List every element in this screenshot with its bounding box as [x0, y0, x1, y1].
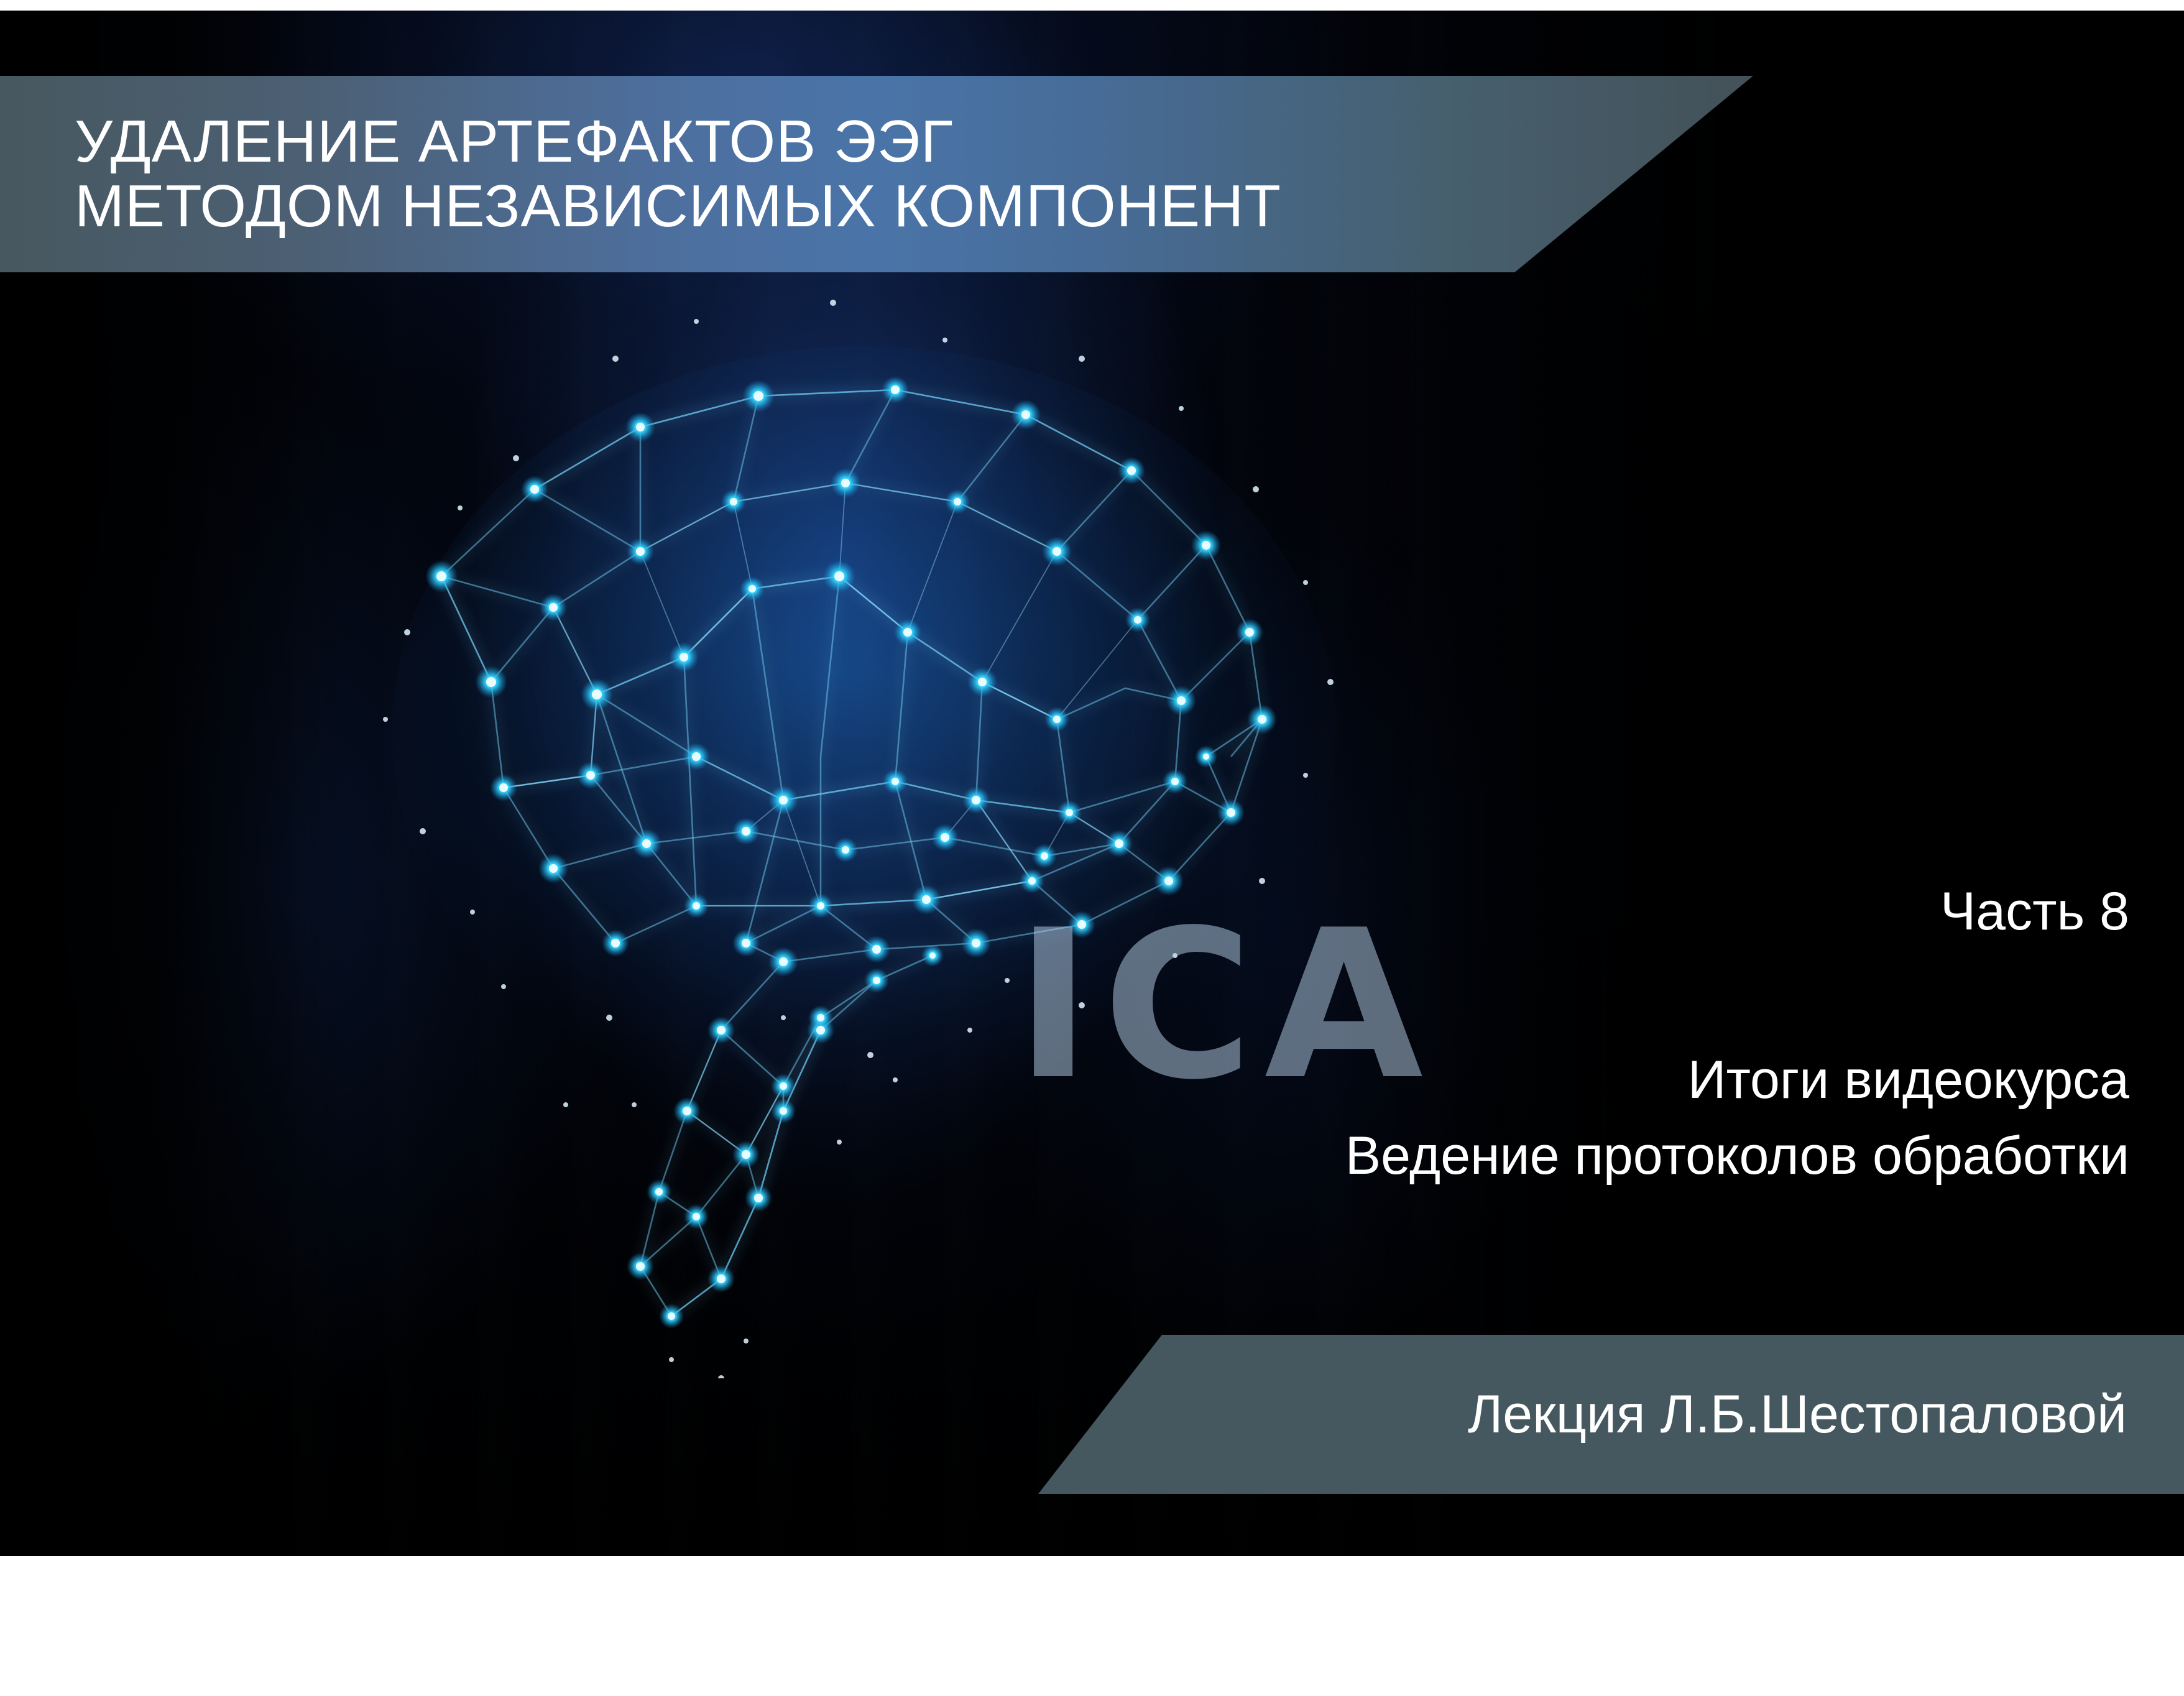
top-white-margin — [0, 0, 2184, 11]
bottom-white-margin — [0, 1556, 2184, 1696]
brain-network-illustration: ICA — [348, 284, 1417, 1378]
slide-canvas: ICA УДАЛЕНИЕ АРТЕФАКТОВ ЭЭГ МЕТОДОМ НЕЗА… — [0, 11, 2184, 1556]
subtitle-block: Часть 8 Итоги видеокурса Ведение протоко… — [1072, 881, 2129, 1194]
slide-page: ICA УДАЛЕНИЕ АРТЕФАКТОВ ЭЭГ МЕТОДОМ НЕЗА… — [0, 0, 2184, 1696]
summary-text: Итоги видеокурса Ведение протоколов обра… — [1072, 1042, 2129, 1194]
author-name: Лекция Л.Б.Шестопаловой — [1468, 1384, 2184, 1445]
title-banner: УДАЛЕНИЕ АРТЕФАКТОВ ЭЭГ МЕТОДОМ НЕЗАВИСИ… — [0, 76, 1753, 272]
author-banner: Лекция Л.Б.Шестопаловой — [1038, 1335, 2184, 1494]
part-label: Часть 8 — [1072, 881, 2129, 942]
page-title: УДАЛЕНИЕ АРТЕФАКТОВ ЭЭГ МЕТОДОМ НЕЗАВИСИ… — [75, 109, 1281, 238]
